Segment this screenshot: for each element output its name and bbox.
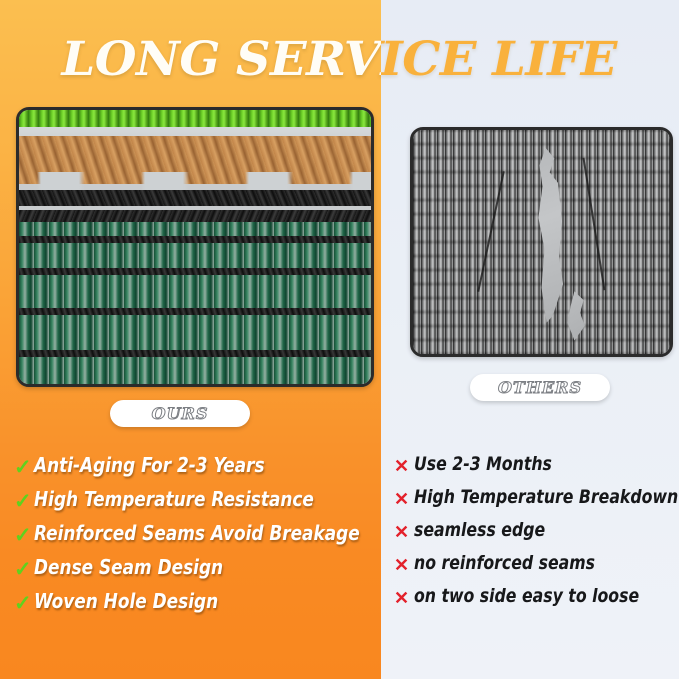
list-item: ✕ seamless edge <box>394 521 672 541</box>
ours-feature-label: Anti-Aging For 2-3 Years <box>34 455 265 476</box>
list-item: ✕ on two side easy to loose <box>394 587 672 607</box>
ours-badge: OURS <box>110 400 250 427</box>
check-icon: ✓ <box>14 457 34 478</box>
ours-feature-list: ✓ Anti-Aging For 2-3 Years ✓ High Temper… <box>14 455 374 625</box>
cross-icon: ✕ <box>394 556 414 574</box>
woven-hole-row <box>19 172 371 192</box>
others-feature-label: High Temperature Breakdown <box>414 488 678 508</box>
list-item: ✓ Woven Hole Design <box>14 591 374 614</box>
check-icon: ✓ <box>14 593 34 614</box>
list-item: ✕ Use 2-3 Months <box>394 455 672 475</box>
cross-icon: ✕ <box>394 490 414 508</box>
stitch-line-4 <box>19 350 371 357</box>
others-feature-label: seamless edge <box>414 521 545 541</box>
green-netting-texture <box>19 110 371 384</box>
others-badge: OTHERS <box>470 374 610 401</box>
list-item: ✕ no reinforced seams <box>394 554 672 574</box>
ours-feature-label: Woven Hole Design <box>34 591 218 612</box>
ours-product-image <box>16 107 374 387</box>
green-woven-body <box>19 222 371 384</box>
others-feature-label: Use 2-3 Months <box>414 455 552 475</box>
ours-badge-label: OURS <box>152 406 209 422</box>
stitch-line-3 <box>19 308 371 315</box>
check-icon: ✓ <box>14 491 34 512</box>
grey-netting-texture <box>413 130 670 354</box>
check-icon: ✓ <box>14 559 34 580</box>
cross-icon: ✕ <box>394 589 414 607</box>
list-item: ✓ Reinforced Seams Avoid Breakage <box>14 523 374 546</box>
cross-icon: ✕ <box>394 523 414 541</box>
green-selvedge-band <box>19 110 371 127</box>
ours-feature-label: High Temperature Resistance <box>34 489 314 510</box>
list-item: ✓ High Temperature Resistance <box>14 489 374 512</box>
black-seam-row-1 <box>19 190 371 206</box>
check-icon: ✓ <box>14 525 34 546</box>
ours-feature-label: Reinforced Seams Avoid Breakage <box>34 523 360 544</box>
stitch-line-1 <box>19 236 371 243</box>
list-item: ✓ Anti-Aging For 2-3 Years <box>14 455 374 478</box>
comparison-infographic: LONG SERVICE LIFE LONG SERVICE LIFE <box>0 0 679 679</box>
others-feature-list: ✕ Use 2-3 Months ✕ High Temperature Brea… <box>394 455 672 620</box>
cross-icon: ✕ <box>394 457 414 475</box>
others-badge-label: OTHERS <box>498 380 582 396</box>
others-feature-label: on two side easy to loose <box>414 587 639 607</box>
list-item: ✓ Dense Seam Design <box>14 557 374 580</box>
others-product-image <box>410 127 673 357</box>
ours-feature-label: Dense Seam Design <box>34 557 223 578</box>
others-feature-label: no reinforced seams <box>414 554 595 574</box>
list-item: ✕ High Temperature Breakdown <box>394 488 672 508</box>
stitch-line-2 <box>19 268 371 275</box>
